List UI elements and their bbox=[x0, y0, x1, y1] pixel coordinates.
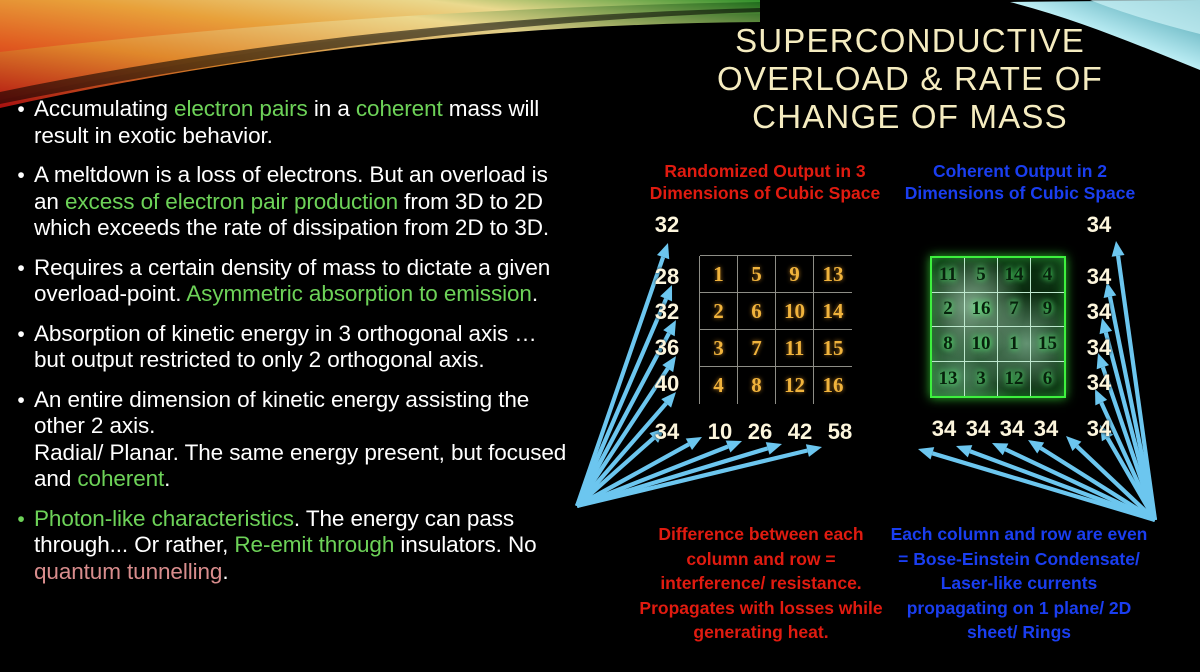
bullet-dimension: •An entire dimension of kinetic energy a… bbox=[8, 387, 568, 493]
coherent-cell-r2c2: 16 bbox=[965, 293, 998, 328]
right-arrow-shaft-8 bbox=[1040, 446, 1157, 522]
randomized-cell-r3c1: 3 bbox=[700, 330, 738, 367]
right-arrow-head-8 bbox=[1028, 440, 1044, 453]
coherent-cell-r3c4: 15 bbox=[1031, 327, 1064, 362]
right-col-sum-4: 34 bbox=[1023, 418, 1069, 440]
text-span: Absorption of kinetic energy in 3 orthog… bbox=[34, 321, 537, 373]
bullet-text: Absorption of kinetic energy in 3 orthog… bbox=[34, 321, 568, 374]
left-row-sum-1: 28 bbox=[644, 266, 690, 288]
panel-caption-coherent: Each column and row are even = Bose-Eins… bbox=[888, 522, 1150, 645]
bullet-absorption: •Absorption of kinetic energy in 3 ortho… bbox=[8, 321, 568, 374]
bullet-photon: •Photon-like characteristics. The energy… bbox=[8, 506, 568, 586]
left-col-sum-4: 58 bbox=[817, 421, 863, 443]
left-arrow-head-10 bbox=[806, 444, 822, 457]
coherent-cell-r3c3: 1 bbox=[998, 327, 1031, 362]
randomized-cell-r2c3: 10 bbox=[776, 293, 814, 330]
left-row-sum-3: 36 bbox=[644, 337, 690, 359]
left-arrow-shaft-9 bbox=[576, 446, 768, 508]
text-span: . bbox=[164, 466, 170, 491]
randomized-cell-r4c4: 16 bbox=[814, 367, 852, 404]
matrix-randomized: 15913261014371115481216 bbox=[700, 256, 852, 404]
right-arrow-shaft-7 bbox=[1075, 445, 1156, 522]
text-span: electron pairs bbox=[174, 96, 308, 121]
randomized-cell-r3c3: 11 bbox=[776, 330, 814, 367]
bullet-density: •Requires a certain density of mass to d… bbox=[8, 255, 568, 308]
left-arrow-shaft-10 bbox=[577, 448, 808, 508]
right-arrow-shaft-2 bbox=[1108, 296, 1157, 520]
bullet-dot-icon: • bbox=[8, 321, 34, 348]
left-corner-bottom-sum: 34 bbox=[644, 421, 690, 443]
right-arrow-head-11 bbox=[918, 447, 934, 459]
left-arrow-shaft-6 bbox=[576, 436, 656, 507]
left-corner-top-sum: 32 bbox=[644, 214, 690, 236]
panel-caption-randomized: Difference between each column and row =… bbox=[632, 522, 890, 645]
panel-heading-randomized: Randomized Output in 3 Dimensions of Cub… bbox=[640, 160, 890, 204]
coherent-cell-r4c3: 12 bbox=[998, 362, 1031, 397]
text-span: excess of electron pair production bbox=[65, 189, 398, 214]
coherent-cell-r3c1: 8 bbox=[932, 327, 965, 362]
page-title: SUPERCONDUCTIVE OVERLOAD & RATE OF CHANG… bbox=[640, 22, 1180, 136]
bullet-dot-icon: • bbox=[8, 387, 34, 414]
randomized-cell-r1c1: 1 bbox=[700, 256, 738, 293]
randomized-cell-r1c2: 5 bbox=[738, 256, 776, 293]
right-row-sum-3: 34 bbox=[1076, 337, 1122, 359]
left-arrow-shaft-2 bbox=[575, 298, 668, 507]
right-arrow-shaft-6 bbox=[1106, 437, 1157, 521]
coherent-cell-r2c1: 2 bbox=[932, 293, 965, 328]
coherent-cell-r2c4: 9 bbox=[1031, 293, 1064, 328]
text-span: Asymmetric absorption to emission bbox=[186, 281, 532, 306]
bullet-text: Photon-like characteristics. The energy … bbox=[34, 506, 568, 586]
text-span: An entire dimension of kinetic energy as… bbox=[34, 387, 529, 439]
left-arrow-shaft-8 bbox=[576, 445, 729, 508]
right-arrow-shaft-10 bbox=[969, 449, 1155, 522]
left-arrow-head-1 bbox=[657, 243, 669, 259]
coherent-cell-r3c2: 10 bbox=[965, 327, 998, 362]
text-span: quantum tunnelling bbox=[34, 559, 222, 584]
right-arrow-head-1 bbox=[1112, 241, 1125, 257]
right-arrow-shaft-9 bbox=[1005, 448, 1156, 522]
right-corner-top-sum: 34 bbox=[1076, 214, 1122, 236]
randomized-cell-r1c3: 9 bbox=[776, 256, 814, 293]
right-corner-bottom-sum: 34 bbox=[1076, 418, 1122, 440]
bullet-text: An entire dimension of kinetic energy as… bbox=[34, 387, 568, 493]
text-span: . bbox=[222, 559, 228, 584]
text-span: Photon-like characteristics bbox=[34, 506, 294, 531]
right-arrow-head-10 bbox=[956, 445, 972, 457]
coherent-cell-r2c3: 7 bbox=[998, 293, 1031, 328]
randomized-cell-r4c1: 4 bbox=[700, 367, 738, 404]
randomized-cell-r3c4: 15 bbox=[814, 330, 852, 367]
bullet-dot-icon: • bbox=[8, 506, 34, 533]
left-arrow-shaft-7 bbox=[576, 442, 690, 507]
bullet-text: Accumulating electron pairs in a coheren… bbox=[34, 96, 568, 149]
randomized-cell-r2c1: 2 bbox=[700, 293, 738, 330]
bullet-accumulating: •Accumulating electron pairs in a cohere… bbox=[8, 96, 568, 149]
coherent-cell-r4c2: 3 bbox=[965, 362, 998, 397]
randomized-cell-r4c3: 12 bbox=[776, 367, 814, 404]
text-span: in a bbox=[308, 96, 356, 121]
coherent-cell-r4c1: 13 bbox=[932, 362, 965, 397]
text-span: . bbox=[532, 281, 538, 306]
coherent-cell-r4c4: 6 bbox=[1031, 362, 1064, 397]
bullet-text: A meltdown is a loss of electrons. But a… bbox=[34, 162, 568, 242]
bullet-list: •Accumulating electron pairs in a cohere… bbox=[8, 96, 568, 598]
randomized-cell-r1c4: 13 bbox=[814, 256, 852, 293]
panel-heading-coherent: Coherent Output in 2 Dimensions of Cubic… bbox=[895, 160, 1145, 204]
bullet-meltdown: •A meltdown is a loss of electrons. But … bbox=[8, 162, 568, 242]
text-span: Re-emit through bbox=[234, 532, 394, 557]
right-arrow-head-9 bbox=[992, 443, 1008, 455]
coherent-cell-r1c4: 4 bbox=[1031, 258, 1064, 293]
left-row-sum-4: 40 bbox=[644, 373, 690, 395]
right-row-sum-2: 34 bbox=[1076, 301, 1122, 323]
coherent-cell-r1c3: 14 bbox=[998, 258, 1031, 293]
coherent-cell-r1c1: 11 bbox=[932, 258, 965, 293]
right-arrow-shaft-1 bbox=[1116, 256, 1157, 521]
randomized-cell-r2c4: 14 bbox=[814, 293, 852, 330]
randomized-cell-r3c2: 7 bbox=[738, 330, 776, 367]
left-arrow-shaft-5 bbox=[575, 402, 667, 507]
right-row-sum-1: 34 bbox=[1076, 266, 1122, 288]
coherent-cell-r1c2: 5 bbox=[965, 258, 998, 293]
text-span: coherent bbox=[77, 466, 164, 491]
bullet-dot-icon: • bbox=[8, 96, 34, 123]
text-span: Accumulating bbox=[34, 96, 174, 121]
bullet-text: Requires a certain density of mass to di… bbox=[34, 255, 568, 308]
bullet-dot-icon: • bbox=[8, 255, 34, 282]
right-arrow-shaft-11 bbox=[932, 451, 1156, 522]
matrix-coherent: 11514421679810115133126 bbox=[930, 256, 1066, 398]
right-row-sum-4: 34 bbox=[1076, 372, 1122, 394]
text-span: insulators. No bbox=[394, 532, 536, 557]
bullet-dot-icon: • bbox=[8, 162, 34, 189]
randomized-cell-r4c2: 8 bbox=[738, 367, 776, 404]
left-row-sum-2: 32 bbox=[644, 301, 690, 323]
text-span: coherent bbox=[356, 96, 443, 121]
randomized-cell-r2c2: 6 bbox=[738, 293, 776, 330]
